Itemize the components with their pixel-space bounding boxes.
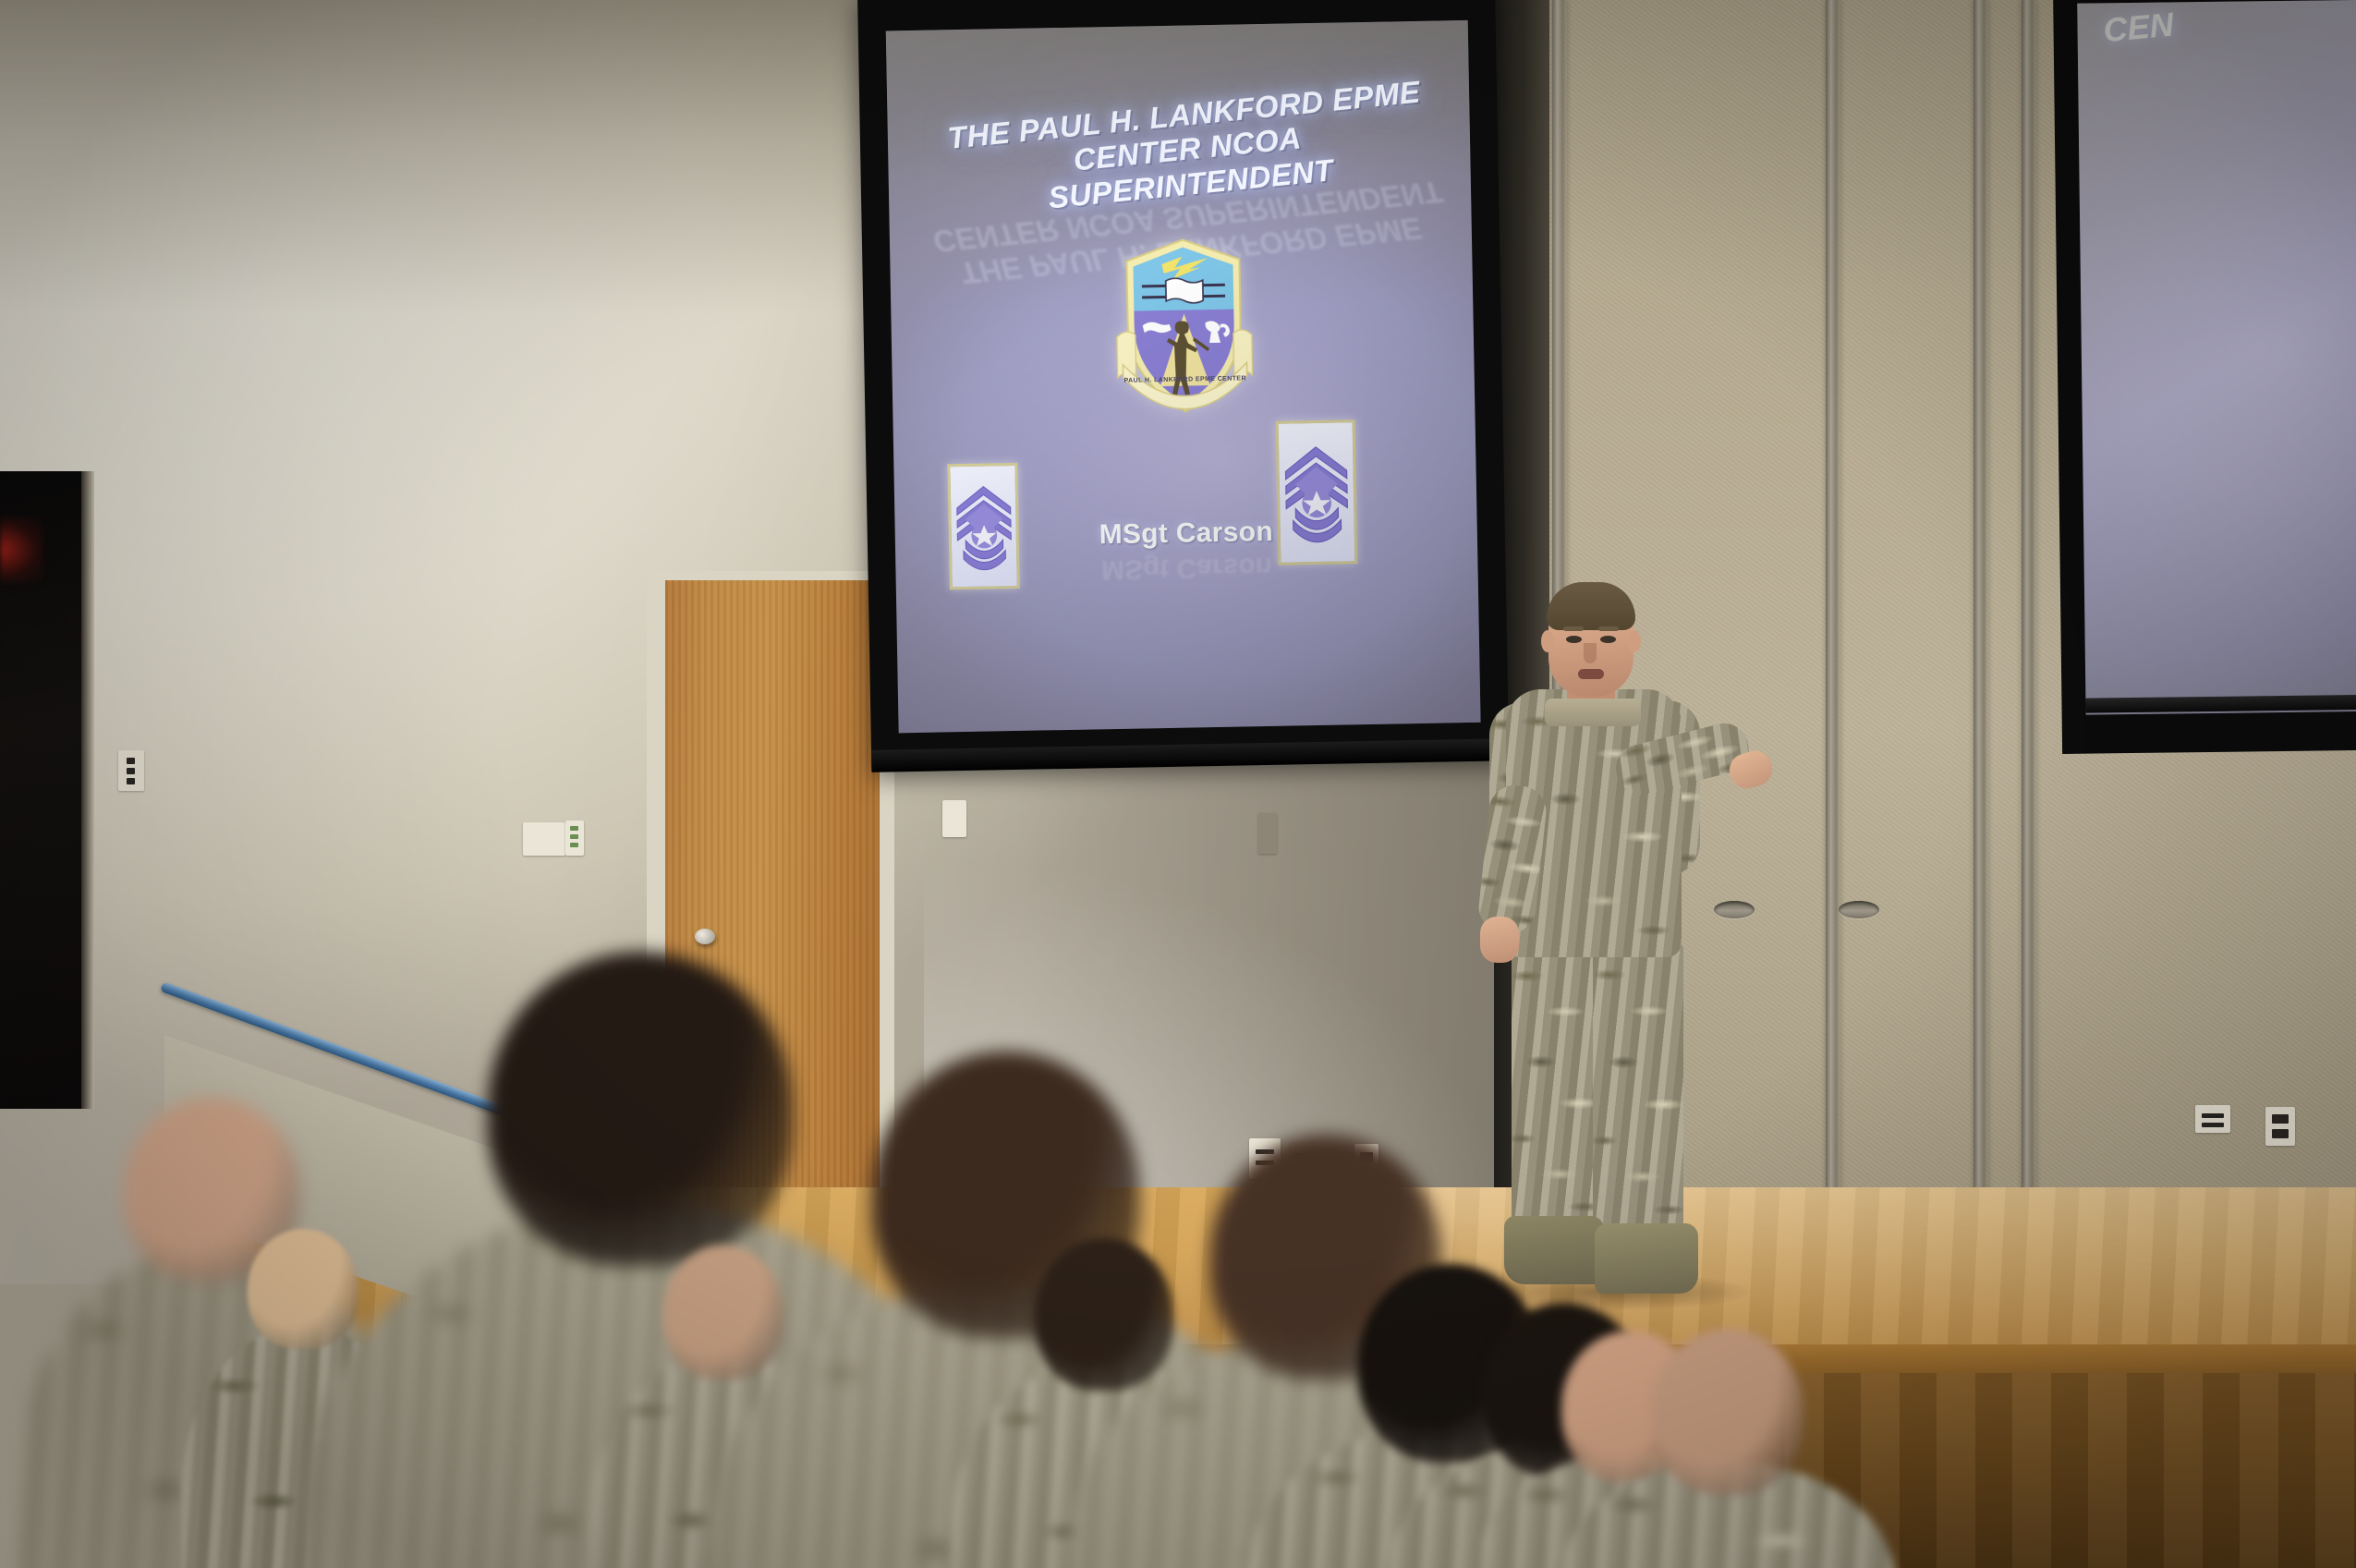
slide-title-reflection: THE PAUL H. LANKFORD EPME CENTER NCOA SU… bbox=[929, 174, 1451, 293]
emblem-scroll-text: PAUL H. LANKFORD EPME CENTER bbox=[1107, 375, 1264, 384]
partition-handle[interactable] bbox=[1714, 901, 1755, 918]
speaker-collar bbox=[1545, 699, 1641, 726]
presenter-name: MSgt Carson bbox=[1002, 515, 1372, 553]
speaker-eyebrow-left bbox=[1563, 626, 1584, 631]
speaker-leg-right bbox=[1593, 939, 1683, 1240]
main-projection-screen: THE PAUL H. LANKFORD EPME CENTER NCOA SU… bbox=[857, 0, 1509, 769]
screen2-bottom-bar bbox=[2085, 692, 2356, 713]
audience-member-gray-hair bbox=[1560, 1329, 1895, 1568]
slide-top-gradient bbox=[886, 20, 1473, 311]
partition-seam bbox=[2022, 0, 2036, 1321]
slide-title-line2: CENTER NCOA SUPERINTENDENT bbox=[929, 106, 1451, 225]
speaker-eye-right bbox=[1600, 636, 1616, 643]
master-sergeant-chevron-right bbox=[1276, 419, 1358, 565]
alcove-edge bbox=[81, 471, 94, 1109]
slide-title: THE PAUL H. LANKFORD EPME CENTER NCOA SU… bbox=[925, 72, 1450, 225]
wall-control-panel[interactable] bbox=[523, 822, 565, 856]
audience-head bbox=[1651, 1329, 1803, 1495]
screen2-surface: CEN bbox=[2077, 0, 2356, 715]
door-strike-plate bbox=[1258, 813, 1277, 854]
speaker-ear-left bbox=[1541, 630, 1554, 652]
exit-sign-glow bbox=[0, 517, 43, 582]
speaker-nose bbox=[1584, 643, 1597, 663]
speaker-mouth bbox=[1578, 669, 1604, 679]
secondary-projection-screen: CEN bbox=[2053, 0, 2356, 754]
speaker-hand-left bbox=[1480, 917, 1519, 963]
partition-seam bbox=[1826, 0, 1840, 1321]
door-knob-icon[interactable] bbox=[695, 929, 715, 944]
screen2-title-fragment: CEN bbox=[2102, 6, 2176, 51]
slide-title-line1: THE PAUL H. LANKFORD EPME bbox=[946, 74, 1422, 154]
master-sergeant-chevron-left bbox=[947, 463, 1019, 590]
air-force-shield-emblem: PAUL H. LANKFORD EPME CENTER bbox=[1104, 235, 1265, 445]
speaker-eyebrow-right bbox=[1598, 626, 1619, 631]
speaker-eye-left bbox=[1566, 636, 1582, 643]
wall-jack-plate[interactable] bbox=[118, 750, 144, 791]
partition-handle[interactable] bbox=[1839, 901, 1879, 918]
wall-switch-plate[interactable] bbox=[565, 820, 584, 856]
wall-switch-plate[interactable] bbox=[942, 800, 966, 837]
speaker-hair bbox=[1547, 582, 1635, 630]
wall-outlet-plate[interactable] bbox=[2195, 1105, 2230, 1133]
auditorium-scene: THE PAUL H. LANKFORD EPME CENTER NCOA SU… bbox=[0, 0, 2356, 1568]
partition-seam bbox=[1973, 0, 1988, 1321]
presenter-name-reflection: MSgt Carson bbox=[1002, 549, 1372, 587]
screen-surface: THE PAUL H. LANKFORD EPME CENTER NCOA SU… bbox=[886, 20, 1481, 733]
wall-switch-plate[interactable] bbox=[2265, 1107, 2295, 1146]
speaker-ear-right bbox=[1628, 630, 1641, 652]
